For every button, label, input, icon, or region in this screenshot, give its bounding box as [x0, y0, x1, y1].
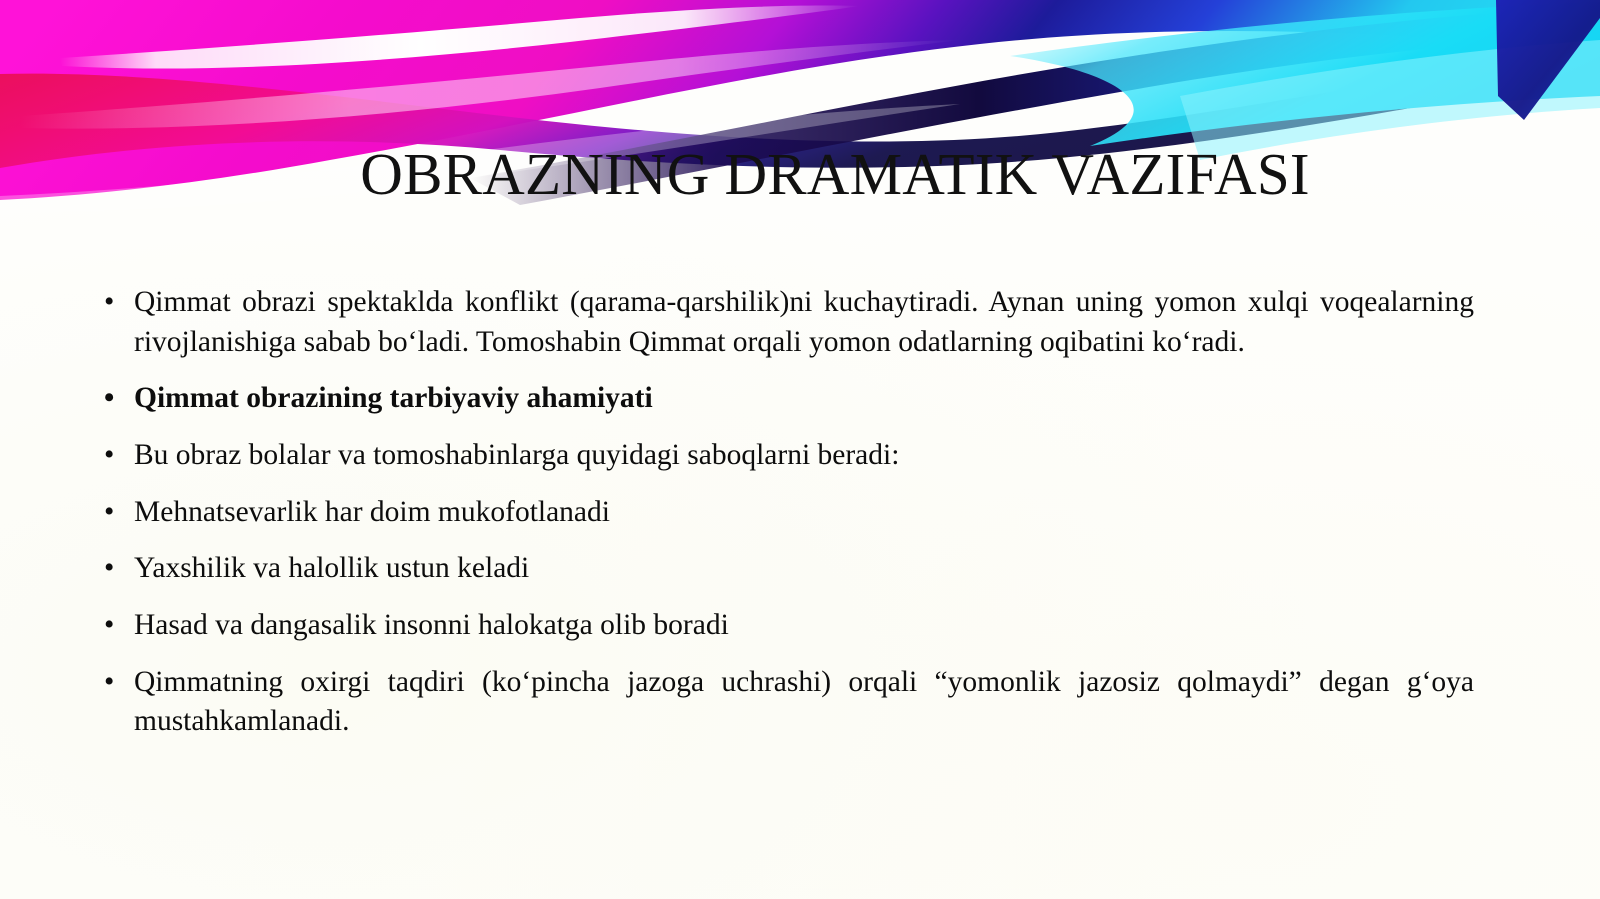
presentation-slide: OBRAZNING DRAMATIK VAZIFASI • Qimmat obr… — [0, 0, 1600, 899]
bullet-marker-icon: • — [104, 606, 114, 646]
list-item-text: Qimmatning oxirgi taqdiri (ko‘pincha jaz… — [134, 663, 1474, 742]
bullet-marker-icon: • — [104, 436, 114, 476]
bullet-marker-icon: • — [104, 549, 114, 589]
list-item-text: Bu obraz bolalar va tomoshabinlarga quyi… — [134, 436, 1474, 476]
list-item-text: Mehnatsevarlik har doim mukofotlanadi — [134, 493, 1474, 533]
list-item: • Bu obraz bolalar va tomoshabinlarga qu… — [96, 436, 1474, 476]
bullet-marker-icon: • — [104, 663, 114, 703]
bullet-marker-icon: • — [104, 379, 114, 419]
list-item-text: Qimmat obrazi spektaklda konflikt (qaram… — [134, 283, 1474, 362]
slide-body-list: • Qimmat obrazi spektaklda konflikt (qar… — [96, 283, 1474, 742]
list-item-text: Yaxshilik va halollik ustun keladi — [134, 549, 1474, 589]
list-item-text: Hasad va dangasalik insonni halokatga ol… — [134, 606, 1474, 646]
list-item: • Qimmat obrazining tarbiyaviy ahamiyati — [96, 379, 1474, 419]
list-item: • Qimmat obrazi spektaklda konflikt (qar… — [96, 283, 1474, 362]
list-item: • Yaxshilik va halollik ustun keladi — [96, 549, 1474, 589]
list-item-text: Qimmat obrazining tarbiyaviy ahamiyati — [134, 379, 1474, 419]
bullet-marker-icon: • — [104, 283, 114, 323]
list-item: • Qimmatning oxirgi taqdiri (ko‘pincha j… — [96, 663, 1474, 742]
list-item: • Hasad va dangasalik insonni halokatga … — [96, 606, 1474, 646]
slide-title: OBRAZNING DRAMATIK VAZIFASI — [0, 144, 1600, 206]
list-item: • Mehnatsevarlik har doim mukofotlanadi — [96, 493, 1474, 533]
bullet-marker-icon: • — [104, 493, 114, 533]
